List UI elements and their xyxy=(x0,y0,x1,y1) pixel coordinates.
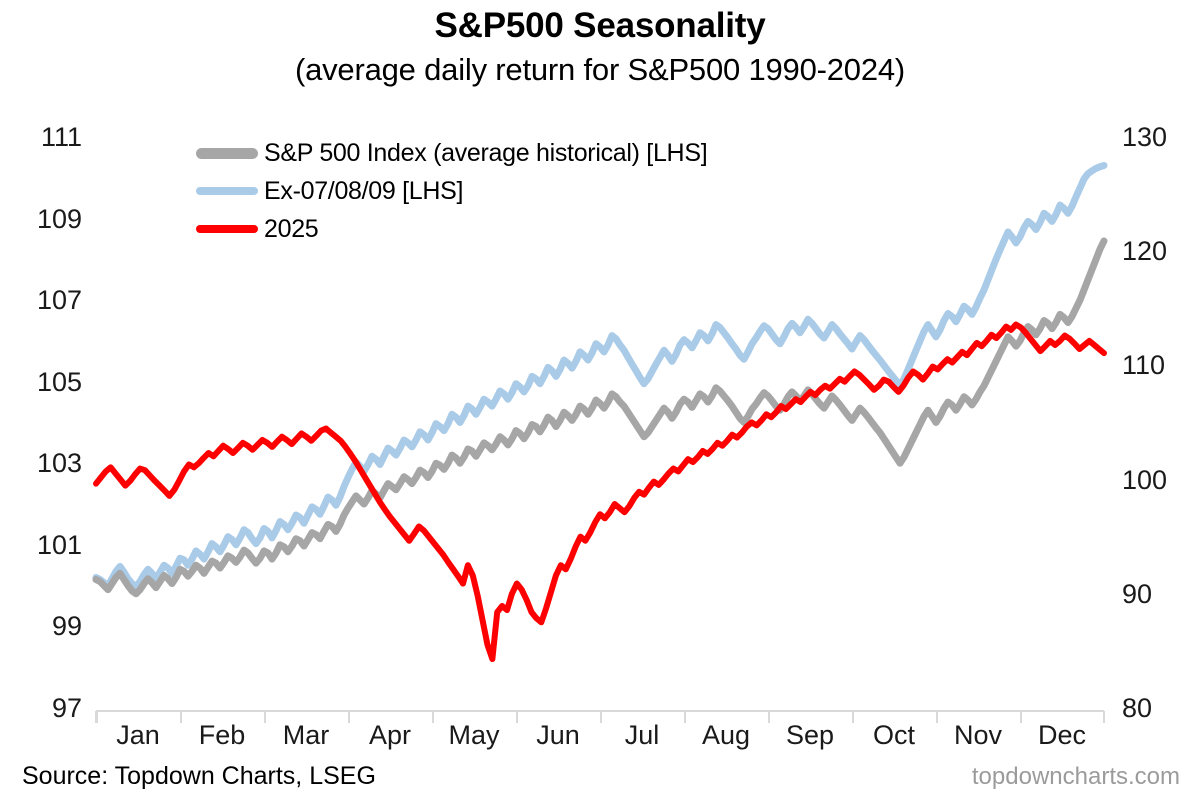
legend-label-ex070809: Ex-07/08/09 [LHS] xyxy=(264,177,463,206)
x-axis-tick-mark xyxy=(600,711,602,723)
legend-label-2025: 2025 xyxy=(264,215,318,244)
chart-container: S&P500 Seasonality (average daily return… xyxy=(0,0,1200,799)
y-axis-left-tick: 107 xyxy=(12,285,82,316)
y-axis-left-tick: 103 xyxy=(12,448,82,479)
legend-swatch-ex070809 xyxy=(196,187,258,195)
legend-swatch-historical xyxy=(196,148,258,159)
y-axis-left-tick: 101 xyxy=(12,530,82,561)
legend-item-historical[interactable]: S&P 500 Index (average historical) [LHS] xyxy=(196,134,707,172)
x-axis-tick-mark xyxy=(852,711,854,723)
y-axis-left-tick: 111 xyxy=(12,122,82,153)
x-axis-tick-mark xyxy=(180,711,182,723)
y-axis-left-tick: 105 xyxy=(12,367,82,398)
y-axis-right-tick: 120 xyxy=(1122,236,1192,267)
x-axis-tick-mark xyxy=(432,711,434,723)
y-axis-right-tick: 110 xyxy=(1122,350,1192,381)
x-axis-tick-mark xyxy=(1103,711,1105,723)
series-line-historical xyxy=(96,241,1104,594)
x-axis-tick-mark xyxy=(684,711,686,723)
y-axis-right-tick: 100 xyxy=(1122,465,1192,496)
watermark: topdowncharts.com xyxy=(972,763,1180,791)
y-axis-right-tick: 90 xyxy=(1122,579,1192,610)
legend-swatch-2025 xyxy=(196,225,258,233)
x-axis-tick-dec: Dec xyxy=(1012,720,1112,751)
x-axis-tick-mark xyxy=(768,711,770,723)
legend-item-ex070809[interactable]: Ex-07/08/09 [LHS] xyxy=(196,172,707,210)
plot-area xyxy=(0,0,1200,799)
y-axis-left-tick: 99 xyxy=(12,611,82,642)
series-line-y2025 xyxy=(96,325,1104,659)
y-axis-right-tick: 80 xyxy=(1122,693,1192,724)
x-axis-tick-mark xyxy=(1020,711,1022,723)
legend-item-2025[interactable]: 2025 xyxy=(196,210,707,248)
source-note: Source: Topdown Charts, LSEG xyxy=(22,762,376,791)
chart-legend: S&P 500 Index (average historical) [LHS]… xyxy=(196,134,707,248)
y-axis-right-tick: 130 xyxy=(1122,122,1192,153)
x-axis-tick-mark xyxy=(264,711,266,723)
x-axis-tick-mark xyxy=(936,711,938,723)
x-axis-tick-mark xyxy=(95,711,97,723)
legend-label-historical: S&P 500 Index (average historical) [LHS] xyxy=(264,139,707,168)
x-axis-tick-mark xyxy=(516,711,518,723)
y-axis-left-tick: 109 xyxy=(12,204,82,235)
y-axis-left-tick: 97 xyxy=(12,693,82,724)
x-axis-tick-mark xyxy=(348,711,350,723)
